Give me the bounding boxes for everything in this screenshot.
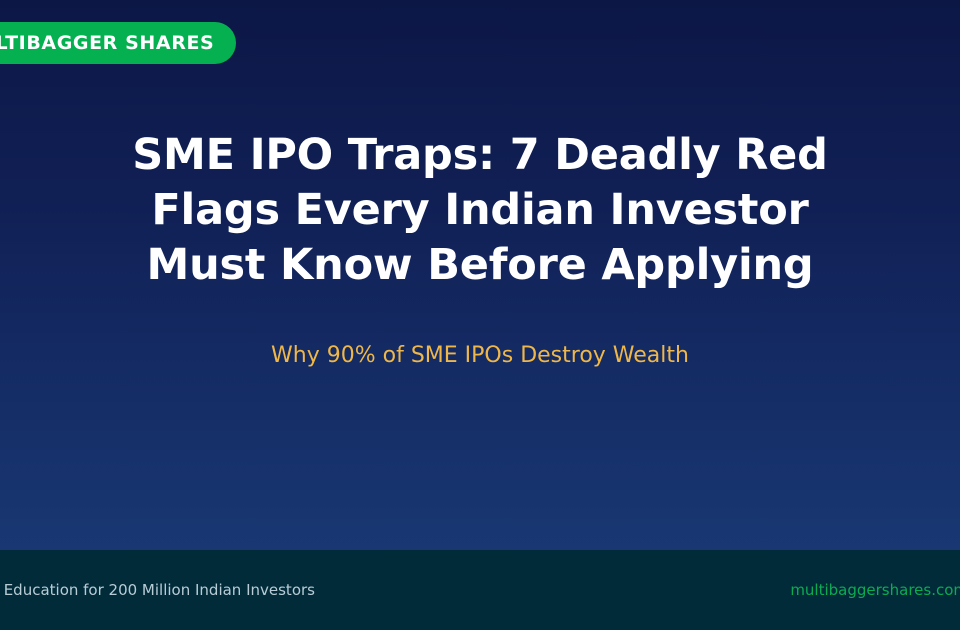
slide-subheadline: Why 90% of SME IPOs Destroy Wealth <box>100 293 860 371</box>
presentation-slide: MULTIBAGGER SHARES SME IPO Traps: 7 Dead… <box>0 0 960 630</box>
footer-tagline: Investing Education for 200 Million Indi… <box>0 581 315 599</box>
footer-website-link[interactable]: multibaggershares.com <box>790 581 960 599</box>
slide-headline: SME IPO Traps: 7 Deadly Red Flags Every … <box>100 128 860 293</box>
slide-footer: Investing Education for 200 Million Indi… <box>0 550 960 630</box>
slide-content: SME IPO Traps: 7 Deadly Red Flags Every … <box>0 0 960 550</box>
